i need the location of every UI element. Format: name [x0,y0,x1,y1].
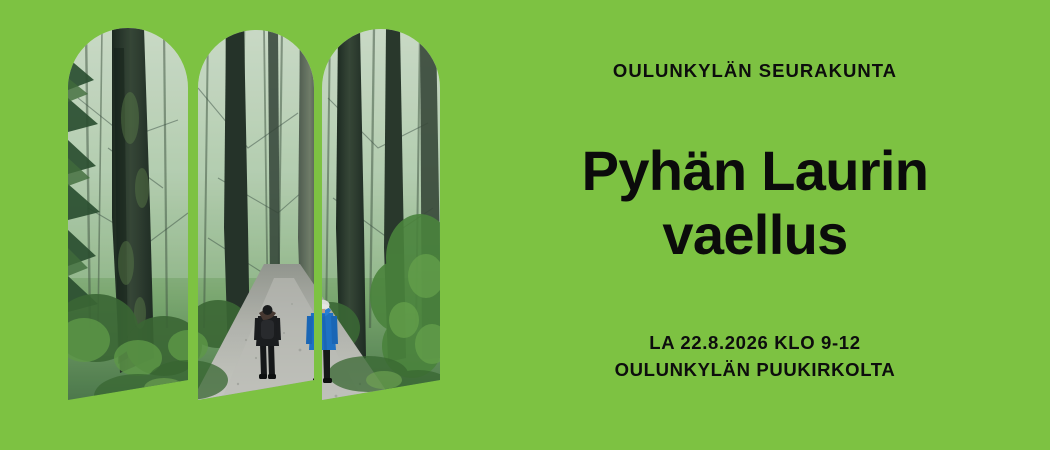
headline-line-1: Pyhän Laurin [582,139,929,204]
text-column: OULUNKYLÄN SEURAKUNTA Pyhän Laurin vaell… [540,0,970,450]
organization-kicker: OULUNKYLÄN SEURAKUNTA [613,62,897,81]
event-location: OULUNKYLÄN PUUKIRKOLTA [615,357,896,384]
forest-photo-svg [68,28,440,408]
event-datetime: LA 22.8.2026 KLO 9-12 [615,330,896,357]
page-title: Pyhän Laurin vaellus [582,139,929,269]
event-banner: OULUNKYLÄN SEURAKUNTA Pyhän Laurin vaell… [0,0,1050,450]
headline-line-2: vaellus [582,203,929,268]
event-details: LA 22.8.2026 KLO 9-12 OULUNKYLÄN PUUKIRK… [615,330,896,384]
photo-content [68,28,440,408]
forest-photo [68,28,440,408]
